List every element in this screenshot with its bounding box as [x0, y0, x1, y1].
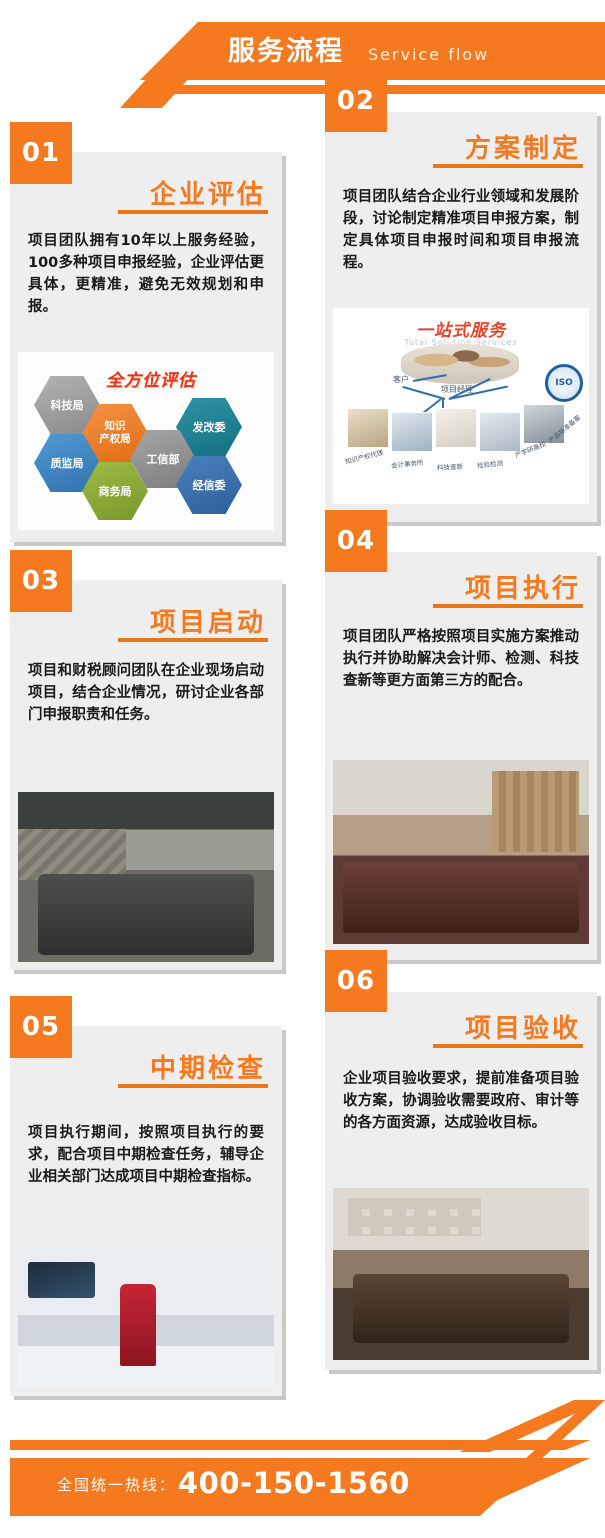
oss-node-1: [347, 408, 389, 448]
oss-iso-seal: ISO: [545, 364, 583, 402]
hexagon-chart-title: 全方位评估: [106, 366, 196, 391]
step-number-badge-03: 03: [10, 550, 72, 612]
oss-node-2: [391, 412, 433, 452]
card-title-04: 项目执行: [465, 568, 581, 605]
hexagon-evaluation-chart: 全方位评估 科技局 知识产权局 发改委 质监局 工信部 商务局 经信委: [18, 352, 274, 530]
page-title: 服务流程: [228, 30, 344, 74]
card-body-06: 企业项目验收要求，提前准备项目验收方案，协调验收需要政府、审计等的各方面资源，达…: [343, 1068, 579, 1134]
infographic-page: 服务流程 Service flow 01 企业评估 项目团队拥有10年以上服务经…: [0, 0, 605, 1538]
header-banner: 服务流程 Service flow: [0, 0, 605, 108]
process-card-01[interactable]: 01 企业评估 项目团队拥有10年以上服务经验，100多种项目申报经验，企业评估…: [10, 152, 282, 542]
card-title-underline-01: [118, 210, 268, 214]
oss-branch-label-3: 科技查新: [437, 461, 463, 472]
card-body-03: 项目和财税顾问团队在企业现场启动项目，结合企业情况，研讨企业各部门申报职责和任务…: [28, 660, 264, 726]
step-number-badge-02: 02: [325, 70, 387, 132]
step-number-badge-04: 04: [325, 510, 387, 572]
step-number-badge-06: 06: [325, 950, 387, 1012]
card-body-01: 项目团队拥有10年以上服务经验，100多种项目申报经验，企业评估更具体，更精准，…: [28, 230, 264, 318]
card-title-underline-02: [433, 164, 583, 168]
oss-branch-label-2: 会计事务所: [390, 457, 423, 470]
step-number-badge-01: 01: [10, 122, 72, 184]
oss-node-4: [479, 412, 521, 452]
card-title-underline-03: [118, 638, 268, 642]
card-title-06: 项目验收: [465, 1008, 581, 1045]
process-card-06[interactable]: 06 项目验收 企业项目验收要求，提前准备项目验收方案，协调验收需要政府、审计等…: [325, 992, 597, 1370]
oss-node-3: [435, 408, 477, 448]
card-title-01: 企业评估: [150, 174, 266, 211]
card-title-underline-06: [433, 1044, 583, 1048]
photo-showroom-visit: [18, 1248, 274, 1388]
oss-branch-label-1: 知识产权代理: [344, 447, 384, 466]
card-body-05: 项目执行期间，按照项目执行的要求，配合项目中期检查任务，辅导企业相关部门达成项目…: [28, 1122, 264, 1188]
page-subtitle: Service flow: [368, 40, 489, 70]
photo-working-meeting: [333, 760, 589, 944]
oss-client-label: 客户: [393, 374, 409, 385]
oss-branch-label-4: 检验检测: [476, 457, 503, 470]
process-card-05[interactable]: 05 中期检查 项目执行期间，按照项目执行的要求，配合项目中期检查任务，辅导企业…: [10, 1026, 282, 1396]
card-title-03: 项目启动: [150, 602, 266, 639]
process-card-02[interactable]: 02 方案制定 项目团队结合企业行业领域和发展阶段，讨论制定精准项目申报方案，制…: [325, 112, 597, 522]
card-title-02: 方案制定: [465, 128, 581, 165]
step-number-badge-05: 05: [10, 996, 72, 1058]
hotline-label: 全国统一热线：: [57, 1474, 176, 1495]
process-card-03[interactable]: 03 项目启动 项目和财税顾问团队在企业现场启动项目，结合企业情况，研讨企业各部…: [10, 580, 282, 970]
card-title-underline-04: [433, 604, 583, 608]
photo-conference-room: [18, 792, 274, 962]
photo-boardroom: [333, 1188, 589, 1360]
one-stop-service-diagram: 一站式服务 Total Solution Services 客户 项目经理 IS…: [333, 308, 589, 504]
hotline-number[interactable]: 400-150-1560: [178, 1466, 410, 1500]
card-title-05: 中期检查: [150, 1048, 266, 1085]
card-title-underline-05: [118, 1084, 268, 1088]
card-body-02: 项目团队结合企业行业领域和发展阶段，讨论制定精准项目申报方案，制定具体项目申报时…: [343, 186, 579, 274]
card-body-04: 项目团队严格按照项目实施方案推动执行并协助解决会计师、检测、科技查新等更方面第三…: [343, 626, 579, 692]
process-card-04[interactable]: 04 项目执行 项目团队严格按照项目实施方案推动执行并协助解决会计师、检测、科技…: [325, 552, 597, 960]
footer-hotline-bar: 全国统一热线： 400-150-1560: [0, 1400, 605, 1538]
